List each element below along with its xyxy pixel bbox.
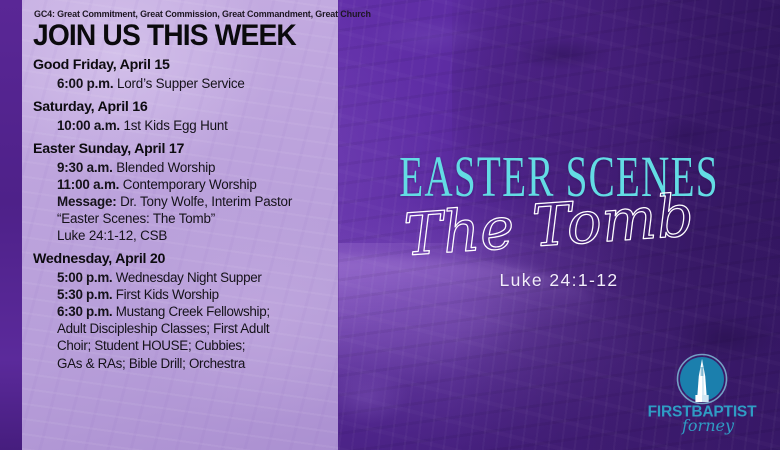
event-list: 6:00 p.m. Lord’s Supper Service	[33, 75, 328, 92]
series-title-text: EASTER SCENES	[399, 148, 718, 206]
event-time: 10:00 a.m.	[57, 118, 120, 133]
event-desc: Wednesday Night Supper	[116, 270, 262, 285]
page-title: JOIN US THIS WEEK	[33, 20, 310, 51]
poster: GC4: Great Commitment, Great Commission,…	[0, 0, 780, 450]
event-time: 6:00 p.m.	[57, 76, 113, 91]
day-block-wednesday: Wednesday, April 20 5:00 p.m. Wednesday …	[33, 251, 328, 371]
event-time: 6:30 p.m.	[57, 304, 112, 319]
list-item: Luke 24:1-12, CSB	[57, 227, 328, 244]
event-list: 9:30 a.m. Blended Worship 11:00 a.m. Con…	[33, 159, 328, 244]
day-block-good-friday: Good Friday, April 15 6:00 p.m. Lord’s S…	[33, 57, 328, 92]
list-item: 11:00 a.m. Contemporary Worship	[57, 176, 328, 193]
list-item: 5:00 p.m. Wednesday Night Supper	[57, 269, 328, 286]
event-list: 10:00 a.m. 1st Kids Egg Hunt	[33, 117, 328, 134]
schedule-panel: GC4: Great Commitment, Great Commission,…	[22, 0, 338, 450]
event-time: 5:30 p.m.	[57, 287, 112, 302]
list-item: 6:30 p.m. Mustang Creek Fellowship;	[57, 303, 328, 320]
event-desc: Mustang Creek Fellowship;	[116, 304, 270, 319]
event-desc: Dr. Tony Wolfe, Interim Pastor	[120, 194, 292, 209]
sermon-scripture: Luke 24:1-12, CSB	[57, 228, 167, 243]
event-desc: First Kids Worship	[116, 287, 219, 302]
event-desc: Choir; Student HOUSE; Cubbies;	[57, 338, 245, 353]
day-block-saturday: Saturday, April 16 10:00 a.m. 1st Kids E…	[33, 99, 328, 134]
day-title: Saturday, April 16	[33, 99, 328, 116]
list-item: 5:30 p.m. First Kids Worship	[57, 286, 328, 303]
sermon-title: “Easter Scenes: The Tomb”	[57, 211, 215, 226]
series-title: EASTER SCENES	[359, 152, 758, 201]
day-title: Wednesday, April 20	[33, 251, 328, 268]
left-accent-strip	[0, 0, 22, 450]
logo-script: forney	[681, 416, 735, 435]
list-item: Choir; Student HOUSE; Cubbies;	[57, 337, 328, 354]
day-title: Good Friday, April 15	[33, 57, 328, 74]
event-desc: Blended Worship	[116, 160, 215, 175]
gc4-tagline: GC4: Great Commitment, Great Commission,…	[34, 9, 324, 19]
list-item: 9:30 a.m. Blended Worship	[57, 159, 328, 176]
list-item: GAs & RAs; Bible Drill; Orchestra	[57, 355, 328, 372]
event-desc: Contemporary Worship	[123, 177, 257, 192]
list-item: Adult Discipleship Classes; First Adult	[57, 320, 328, 337]
list-item: 6:00 p.m. Lord’s Supper Service	[57, 75, 328, 92]
event-label: Message:	[57, 194, 117, 209]
event-desc: 1st Kids Egg Hunt	[124, 118, 228, 133]
church-steeple-icon	[678, 355, 727, 404]
event-time: 5:00 p.m.	[57, 270, 112, 285]
event-list: 5:00 p.m. Wednesday Night Supper 5:30 p.…	[33, 269, 328, 371]
event-desc: Adult Discipleship Classes; First Adult	[57, 321, 269, 336]
scripture-reference: Luke 24:1-12	[500, 270, 619, 291]
day-title: Easter Sunday, April 17	[33, 141, 328, 158]
list-item: “Easter Scenes: The Tomb”	[57, 210, 328, 227]
event-desc: Lord’s Supper Service	[117, 76, 245, 91]
event-time: 9:30 a.m.	[57, 160, 113, 175]
list-item: 10:00 a.m. 1st Kids Egg Hunt	[57, 117, 328, 134]
list-item: Message: Dr. Tony Wolfe, Interim Pastor	[57, 193, 328, 210]
day-block-easter-sunday: Easter Sunday, April 17 9:30 a.m. Blende…	[33, 141, 328, 244]
event-time: 11:00 a.m.	[57, 177, 119, 192]
event-desc: GAs & RAs; Bible Drill; Orchestra	[57, 356, 245, 371]
church-logo: FIRSTBAPTIST forney	[642, 352, 762, 438]
